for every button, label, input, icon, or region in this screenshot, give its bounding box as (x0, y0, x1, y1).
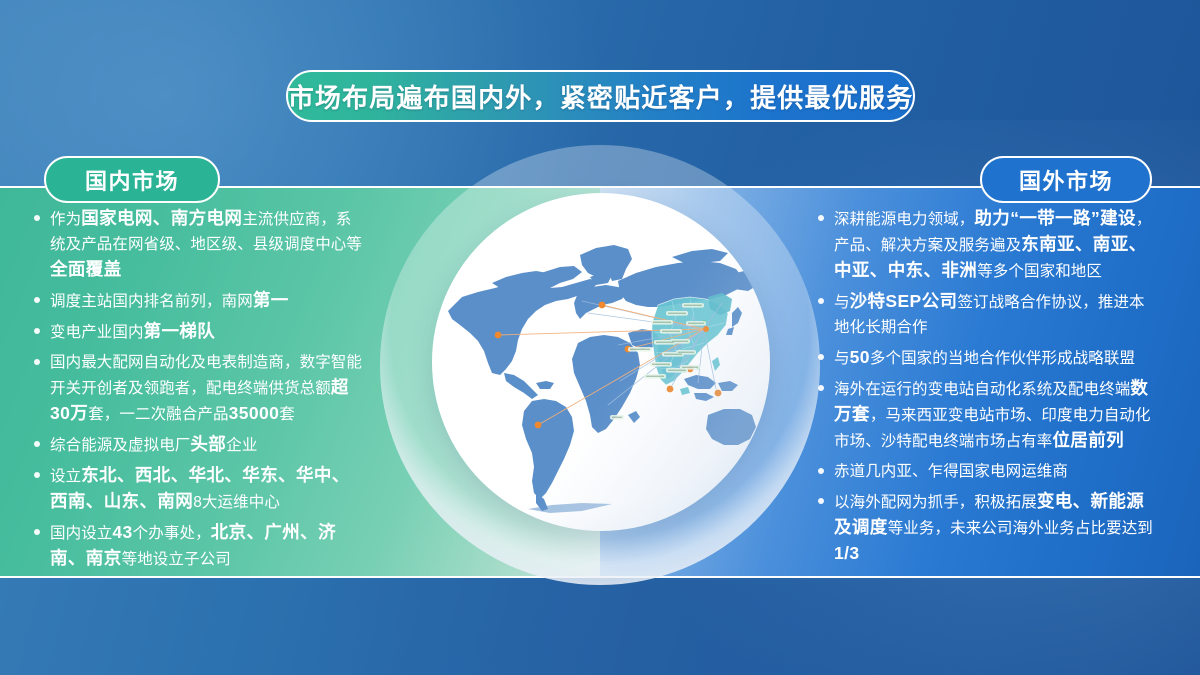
section-pill-domestic-label: 国内市场 (85, 164, 179, 196)
bullet-text: 以海外配网为抓手，积极拓展 (834, 494, 1037, 511)
domestic-bullet-list: 作为国家电网、南方电网主流供应商，系统及产品在网省级、地区级、县级调度中心等全面… (34, 206, 364, 577)
globe-disc (432, 193, 770, 531)
bullet-text: 设立 (50, 468, 81, 485)
bullet-emphasis: 50 (850, 347, 870, 367)
bullet-text: 与 (834, 350, 850, 367)
section-pill-overseas-label: 国外市场 (1019, 164, 1113, 196)
bullet-dot-icon (34, 215, 40, 221)
bullet-dot-icon (34, 441, 40, 447)
bullet-text: 企业 (226, 437, 257, 454)
bullet-text: 多个国家的当地合作伙伴形成战略联盟 (870, 350, 1135, 367)
bullet-text: 赤道几内亚、乍得国家电网运维商 (834, 463, 1068, 480)
bullet-text: 等业务，未来公司海外业务占比要达到 (888, 520, 1153, 537)
bullet-text: 综合能源及虚拟电厂 (50, 437, 190, 454)
bullet-item: 与50多个国家的当地合作伙伴形成战略联盟 (818, 345, 1158, 371)
bullet-dot-icon (34, 472, 40, 478)
bullet-dot-icon (34, 359, 40, 365)
slide-title-pill: 市场布局遍布国内外，紧密贴近客户，提供最优服务 (286, 70, 915, 122)
bullet-item: 国内最大配网自动化及电表制造商，数字智能开关开创者及领跑者，配电终端供货总额超3… (34, 350, 364, 427)
bullet-dot-icon (34, 297, 40, 303)
bullet-emphasis: 位居前列 (1052, 430, 1124, 450)
bullet-text: 与 (834, 294, 850, 311)
bullet-emphasis: 1/3 (834, 543, 860, 563)
globe-graphic (380, 145, 820, 585)
bullet-dot-icon (818, 215, 824, 221)
map-landmasses (448, 245, 770, 513)
bullet-emphasis: 助力“一带一路”建设 (974, 208, 1136, 228)
bullet-dot-icon (818, 468, 824, 474)
bullet-item: 赤道几内亚、乍得国家电网运维商 (818, 459, 1158, 484)
bullet-text: 等地设立子公司 (122, 551, 231, 568)
page-title: 市场布局遍布国内外，紧密贴近客户，提供最优服务 (288, 78, 914, 115)
bullet-item: 深耕能源电力领域，助力“一带一路”建设，产品、解决方案及服务遍及东南亚、南亚、中… (818, 206, 1158, 284)
bullet-dot-icon (818, 498, 824, 504)
bullet-emphasis: 国家电网、南方电网 (81, 208, 242, 228)
bullet-item: 以海外配网为抓手，积极拓展变电、新能源及调度等业务，未来公司海外业务占比要达到1… (818, 489, 1158, 567)
bullet-emphasis: 43 (112, 522, 132, 542)
bullet-emphasis: 全面覆盖 (50, 259, 122, 279)
bullet-item: 作为国家电网、南方电网主流供应商，系统及产品在网省级、地区级、县级调度中心等全面… (34, 206, 364, 283)
bullet-item: 变电产业国内第一梯队 (34, 319, 364, 345)
bullet-item: 综合能源及虚拟电厂头部企业 (34, 432, 364, 458)
bullet-dot-icon (818, 298, 824, 304)
bullet-emphasis: 第一 (253, 290, 289, 310)
bullet-item: 海外在运行的变电站自动化系统及配电终端数万套，马来西亚变电站市场、印度电力自动化… (818, 376, 1158, 454)
slide-root: 市场布局遍布国内外，紧密贴近客户，提供最优服务 国内市场 国外市场 作为国家电网… (0, 0, 1200, 675)
bullet-dot-icon (34, 529, 40, 535)
bullet-item: 设立东北、西北、华北、华东、华中、西南、山东、南网8大运维中心 (34, 463, 364, 515)
bullet-item: 与沙特SEP公司签订战略合作协议，推进本地化长期合作 (818, 289, 1158, 340)
section-pill-domestic: 国内市场 (44, 156, 220, 203)
bullet-text: 个办事处， (133, 525, 211, 542)
bullet-text: 变电产业国内 (50, 324, 144, 341)
bullet-dot-icon (818, 354, 824, 360)
bullet-dot-icon (818, 385, 824, 391)
bullet-text: 海外在运行的变电站自动化系统及配电终端 (834, 381, 1130, 398)
bullet-emphasis: 第一梯队 (144, 321, 216, 341)
bullet-text: 国内最大配网自动化及电表制造商，数字智能开关开创者及领跑者，配电终端供货总额 (50, 354, 362, 397)
bullet-text: 套，一二次融合产品 (88, 406, 228, 423)
bullet-text: 国内设立 (50, 525, 112, 542)
bullet-emphasis: 沙特SEP公司 (850, 291, 958, 311)
bullet-text: 深耕能源电力领域， (834, 211, 974, 228)
bullet-item: 调度主站国内排名前列，南网第一 (34, 288, 364, 314)
bullet-text: 作为 (50, 211, 81, 228)
world-map-svg (432, 193, 770, 531)
bullet-item: 国内设立43个办事处，北京、广州、济南、南京等地设立子公司 (34, 520, 364, 572)
section-pill-overseas: 国外市场 (980, 156, 1152, 203)
bullet-dot-icon (34, 328, 40, 334)
bullet-text: 套 (279, 406, 295, 423)
bullet-text: 8大运维中心 (193, 494, 280, 511)
bullet-text: 调度主站国内排名前列，南网 (50, 293, 253, 310)
overseas-bullet-list: 深耕能源电力领域，助力“一带一路”建设，产品、解决方案及服务遍及东南亚、南亚、中… (818, 206, 1158, 572)
bullet-emphasis: 头部 (190, 434, 226, 454)
bullet-text: 等多个国家和地区 (977, 263, 1102, 280)
bullet-emphasis: 35000 (229, 403, 280, 423)
